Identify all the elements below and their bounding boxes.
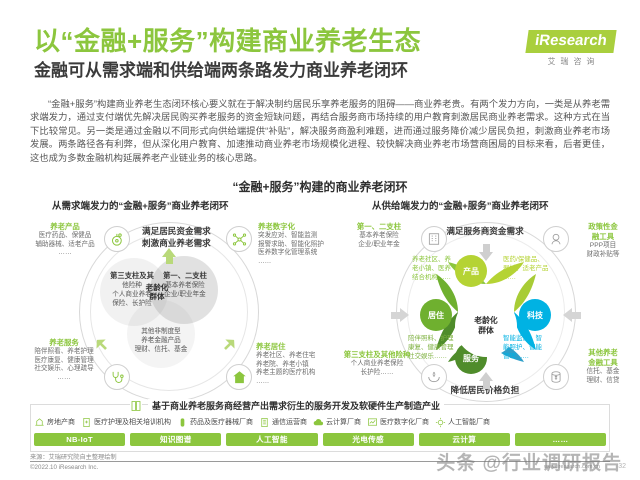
- monitor-chart-icon: [367, 417, 378, 428]
- right-core-l1: 老龄化: [474, 316, 497, 326]
- right-corner-2-l1: 个人商业养老保险: [330, 360, 424, 369]
- petal-housing: 居住: [420, 299, 452, 331]
- left-corner-2-label: 养老服务: [18, 338, 110, 348]
- body-paragraph: “金融+服务”构建商业养老生态闭环核心要义就在于解决制约居民乐享养老服务的阻碍—…: [30, 98, 610, 165]
- venn-bottom-l2: 养老金融产品: [127, 336, 195, 345]
- venn-right-heading: 第一、二支柱: [163, 271, 207, 280]
- house-person-icon: [226, 364, 252, 390]
- right-corner-3-l2: 理财、信贷: [572, 377, 634, 386]
- petal-housing-label: 居住: [428, 310, 444, 321]
- rq0-l3: 结合机构……: [412, 273, 466, 282]
- right-quadrant-top-left: 养老社区、养 老小镇、医养 结合机构……: [412, 255, 466, 282]
- tech-chip-1[interactable]: 知识图谱: [130, 433, 221, 446]
- left-corner-2-l4: ……: [18, 374, 110, 383]
- right-left-arrow-head: [400, 308, 409, 322]
- right-corner-2: 第三支柱及其他险种 个人商业养老保险 长护险……: [330, 350, 424, 377]
- network-node-icon: [226, 226, 252, 252]
- vendor-label-1: 医疗护理及相关培训机构: [94, 417, 171, 427]
- right-down-arrow-head: [479, 252, 493, 261]
- petal-tech-label: 科技: [527, 310, 543, 321]
- logo-subtitle: 艾瑞咨询: [516, 56, 626, 67]
- right-corner-2-label: 第三支柱及其他险种: [330, 350, 424, 360]
- vendor-item-2: 药品及医疗器械厂商: [177, 417, 253, 428]
- right-corner-3-label-l2: 金融工具: [572, 358, 634, 368]
- left-corner-2-l3: 社交娱乐、心理疏导: [18, 365, 110, 374]
- rq1-l3: ……: [503, 273, 561, 282]
- page-subtitle: 金融可从需求端和供给端两条路发力商业养老闭环: [34, 60, 504, 82]
- left-corner-3-l4: ……: [256, 378, 350, 387]
- industry-chain-caption: 基于商业养老服务商经营产出需求衍生的服务开发及软硬件生产制造产业: [148, 399, 444, 412]
- vendor-list: 房地产商 医疗护理及相关培训机构 药品及医疗器械厂商 通信运营商 云计算厂商: [34, 414, 606, 430]
- vendor-label-5: 医疗数字化厂商: [380, 417, 429, 427]
- building-icon: [421, 226, 447, 252]
- right-corner-0-label: 第一、二支柱: [338, 222, 420, 232]
- left-corner-0-label: 养老产品: [22, 222, 108, 232]
- left-corner-1-l3: 医养数字化管理系统: [258, 249, 350, 258]
- logo-badge: iResearch: [526, 30, 617, 53]
- left-corner-2-l2: 医疗康复、健康管理: [18, 357, 110, 366]
- left-corner-1: 养老数字化 突发应对、智能监测 报警求助、智能化照护 医养数字化管理系统 ……: [258, 222, 350, 266]
- left-panel-title: 从需求端发力的“金融+服务”商业养老闭环: [52, 198, 229, 212]
- left-top-need: 满足居民资金需求 刺激商业养老需求: [142, 226, 211, 249]
- left-up-arrow-stem: [166, 256, 173, 264]
- right-core-l2: 群体: [474, 326, 497, 336]
- signal-icon: [259, 417, 270, 428]
- right-left-arrow-stem: [391, 312, 400, 319]
- right-corner-1-l2: 财政补贴等: [572, 251, 634, 260]
- tech-chip-2[interactable]: 人工智能: [226, 433, 317, 446]
- right-corner-1-l1: PPP项目: [572, 242, 634, 251]
- capsule-icon: [177, 417, 188, 428]
- left-corner-1-l4: ……: [258, 258, 350, 267]
- venn-bottom-l1: 其他非制度型: [127, 327, 195, 336]
- hands-care-icon: [421, 364, 447, 390]
- left-top-need-l1: 满足居民资金需求: [142, 226, 211, 238]
- rq2-l1: 智能监测、智: [503, 334, 559, 343]
- right-corner-3-l1: 信托、基金: [572, 368, 634, 377]
- right-corner-1-label-l1: 政策性金: [572, 222, 634, 232]
- tech-chip-4[interactable]: 云计算: [419, 433, 510, 446]
- page-header: 以“金融+服务”构建商业养老生态 金融可从需求端和供给端两条路发力商业养老闭环: [34, 26, 504, 82]
- right-quadrant-top-right: 医药/保健品、 器械、适老产品 ……: [503, 255, 561, 282]
- right-corner-1: 政策性金 融工具 PPP项目 财政补贴等: [572, 222, 634, 259]
- rq2-l3: 管理……: [503, 352, 559, 361]
- right-quadrant-bottom-right: 智能监测、智 能照护、智能 管理……: [503, 334, 559, 361]
- book-icon: [130, 399, 142, 411]
- tech-chip-5[interactable]: ……: [515, 433, 606, 446]
- left-corner-0-l3: ……: [22, 249, 108, 258]
- coin-jar-icon: [543, 364, 569, 390]
- rq0-l2: 老小镇、医养: [412, 264, 466, 273]
- rq1-l1: 医药/保健品、: [503, 255, 561, 264]
- left-corner-1-label: 养老数字化: [258, 222, 350, 232]
- venn-bottom-l3: 理财、信托、基金: [127, 345, 195, 354]
- left-corner-1-l1: 突发应对、智能监测: [258, 232, 350, 241]
- vendor-label-2: 药品及医疗器械厂商: [190, 417, 253, 427]
- rq0-l1: 养老社区、养: [412, 255, 466, 264]
- vendor-item-3: 通信运营商: [259, 417, 307, 428]
- right-corner-3-label-l1: 其他养老: [572, 348, 634, 358]
- right-corner-0-l2: 企业/职业年金: [338, 241, 420, 250]
- venn-left-heading: 第三支柱及其: [110, 271, 154, 280]
- right-up-arrow-stem: [483, 381, 490, 389]
- right-corner-3: 其他养老 金融工具 信托、基金 理财、信贷: [572, 348, 634, 385]
- rq1-l2: 器械、适老产品: [503, 264, 561, 273]
- source-note: 来源：艾瑞研究院自主整理绘制: [30, 452, 117, 461]
- policy-icon: [543, 226, 569, 252]
- right-corner-2-l2: 长护险……: [330, 369, 424, 378]
- tech-list: NB-IoT 知识图谱 人工智能 光电传感 云计算 ……: [34, 432, 606, 446]
- vendor-label-4: 云计算厂商: [326, 417, 361, 427]
- watermark: 头条 @行业调研报告: [436, 448, 622, 475]
- left-corner-0-l1: 医疗药品、保健品: [22, 232, 108, 241]
- right-right-arrow-stem: [572, 312, 581, 319]
- left-corner-0-l2: 辅助器械、适老产品: [22, 241, 108, 250]
- building-hand-icon: [34, 417, 45, 428]
- medical-cabinet-icon: [81, 417, 92, 428]
- right-down-arrow-stem: [483, 244, 490, 252]
- vendor-label-3: 通信运营商: [272, 417, 307, 427]
- left-core-label: 老龄化群体: [144, 283, 170, 301]
- left-corner-2-l1: 陪伴照看、养老护理: [18, 348, 110, 357]
- section-title: “金融+服务”构建的商业养老闭环: [0, 178, 640, 195]
- right-corner-0-l1: 基本养老保险: [338, 232, 420, 241]
- cloud-icon: [313, 417, 324, 428]
- vendor-item-5: 医疗数字化厂商: [367, 417, 429, 428]
- vendor-label-0: 房地产商: [47, 417, 75, 427]
- vendor-item-1: 医疗护理及相关培训机构: [81, 417, 171, 428]
- tech-chip-0[interactable]: NB-IoT: [34, 433, 125, 446]
- right-up-arrow-head: [479, 372, 493, 381]
- left-corner-2: 养老服务 陪伴照看、养老护理 医疗康复、健康管理 社交娱乐、心理疏导 ……: [18, 338, 110, 382]
- tech-chip-3[interactable]: 光电传感: [323, 433, 414, 446]
- right-panel-title: 从供给端发力的“金融+服务”商业养老闭环: [372, 198, 549, 212]
- rq2-l2: 能照护、智能: [503, 343, 559, 352]
- ai-chip-icon: [435, 417, 446, 428]
- left-corner-1-l2: 报警求助、智能化照护: [258, 241, 350, 250]
- right-corner-1-label-l2: 融工具: [572, 232, 634, 242]
- right-right-arrow-head: [563, 308, 572, 322]
- vendor-item-4: 云计算厂商: [313, 417, 361, 428]
- vendor-item-6: 人工智能厂商: [435, 417, 490, 428]
- page-title: 以“金融+服务”构建商业养老生态: [34, 26, 504, 56]
- petal-tech: 科技: [519, 299, 551, 331]
- rq3-l1: 陪伴照料、护理: [408, 334, 466, 343]
- slide-page: 以“金融+服务”构建商业养老生态 金融可从需求端和供给端两条路发力商业养老闭环 …: [0, 0, 640, 480]
- vendor-item-0: 房地产商: [34, 417, 75, 428]
- right-corner-0: 第一、二支柱 基本养老保险 企业/职业年金: [338, 222, 420, 249]
- logo-text: Research: [538, 32, 608, 49]
- left-top-need-l2: 刺激商业养老需求: [142, 238, 211, 250]
- copyright-note: ©2022.10 iResearch Inc.: [30, 464, 98, 471]
- venn-bottom-text: 其他非制度型 养老金融产品 理财、信托、基金: [127, 327, 195, 354]
- left-corner-0: 养老产品 医疗药品、保健品 辅助器械、适老产品 ……: [22, 222, 108, 258]
- vendor-label-6: 人工智能厂商: [448, 417, 490, 427]
- iresearch-logo: iResearch 艾瑞咨询: [516, 30, 626, 67]
